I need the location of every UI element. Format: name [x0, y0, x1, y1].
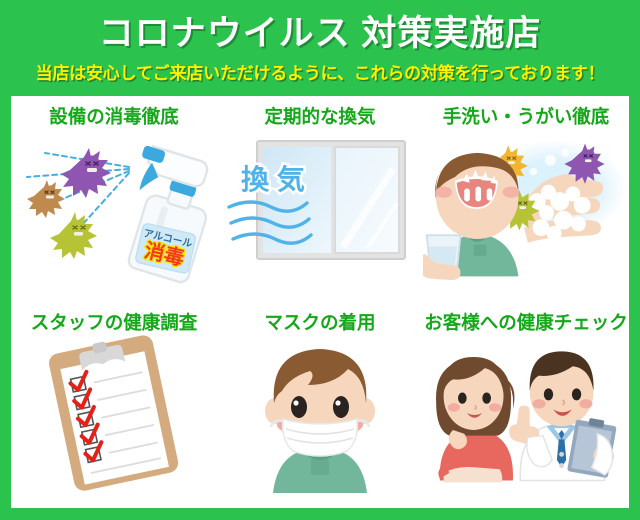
spray-bottle-icon: アルコール 消毒: [11, 129, 217, 289]
customer-woman-illustration: [436, 356, 514, 481]
window-icon: 換 気: [217, 129, 423, 289]
doctor-and-customer-icon: [423, 335, 629, 495]
page-subtitle: 当店は安心してご来店いただけるように、これらの対策を行っております！: [36, 59, 605, 84]
measure-card-disinfection: 設備の消毒徹底: [11, 96, 217, 302]
ventilation-overlay-label: 換 気: [241, 164, 305, 195]
person-with-mask-icon: [217, 335, 423, 495]
measures-grid: 設備の消毒徹底: [11, 96, 629, 508]
measure-title-ventilation: 定期的な換気: [264, 108, 375, 127]
measure-card-mask: マスクの着用: [217, 302, 423, 508]
measure-card-staff-health: スタッフの健康調査: [11, 302, 217, 508]
measure-title-staff-health: スタッフの健康調査: [31, 314, 198, 333]
measure-title-customer-check: お客様への健康チェック: [424, 314, 628, 333]
germ-green-icon: [50, 212, 97, 259]
measure-title-mask: マスクの着用: [264, 314, 375, 333]
doctor-illustration: [509, 351, 617, 480]
poster-root: コロナウイルス 対策実施店 当店は安心してご来店いただけるように、これらの対策を…: [0, 0, 640, 520]
page-title: コロナウイルス 対策実施店: [99, 16, 542, 53]
gargling-man-illustration: [423, 152, 519, 279]
measure-card-ventilation: 定期的な換気: [217, 96, 423, 302]
measure-card-customer-check: お客様への健康チェック: [423, 302, 629, 508]
germ-purple-icon: [61, 148, 111, 198]
handwash-gargle-icon: [423, 129, 629, 289]
measure-card-handwash: 手洗い・うがい徹底: [423, 96, 629, 302]
poster-header: コロナウイルス 対策実施店 当店は安心してご来店いただけるように、これらの対策を…: [0, 0, 640, 96]
clipboard-checklist-icon: [11, 335, 217, 495]
measure-title-handwash: 手洗い・うがい徹底: [443, 108, 610, 127]
germ-brown-icon: [27, 180, 65, 218]
measure-title-disinfection: 設備の消毒徹底: [49, 108, 179, 127]
